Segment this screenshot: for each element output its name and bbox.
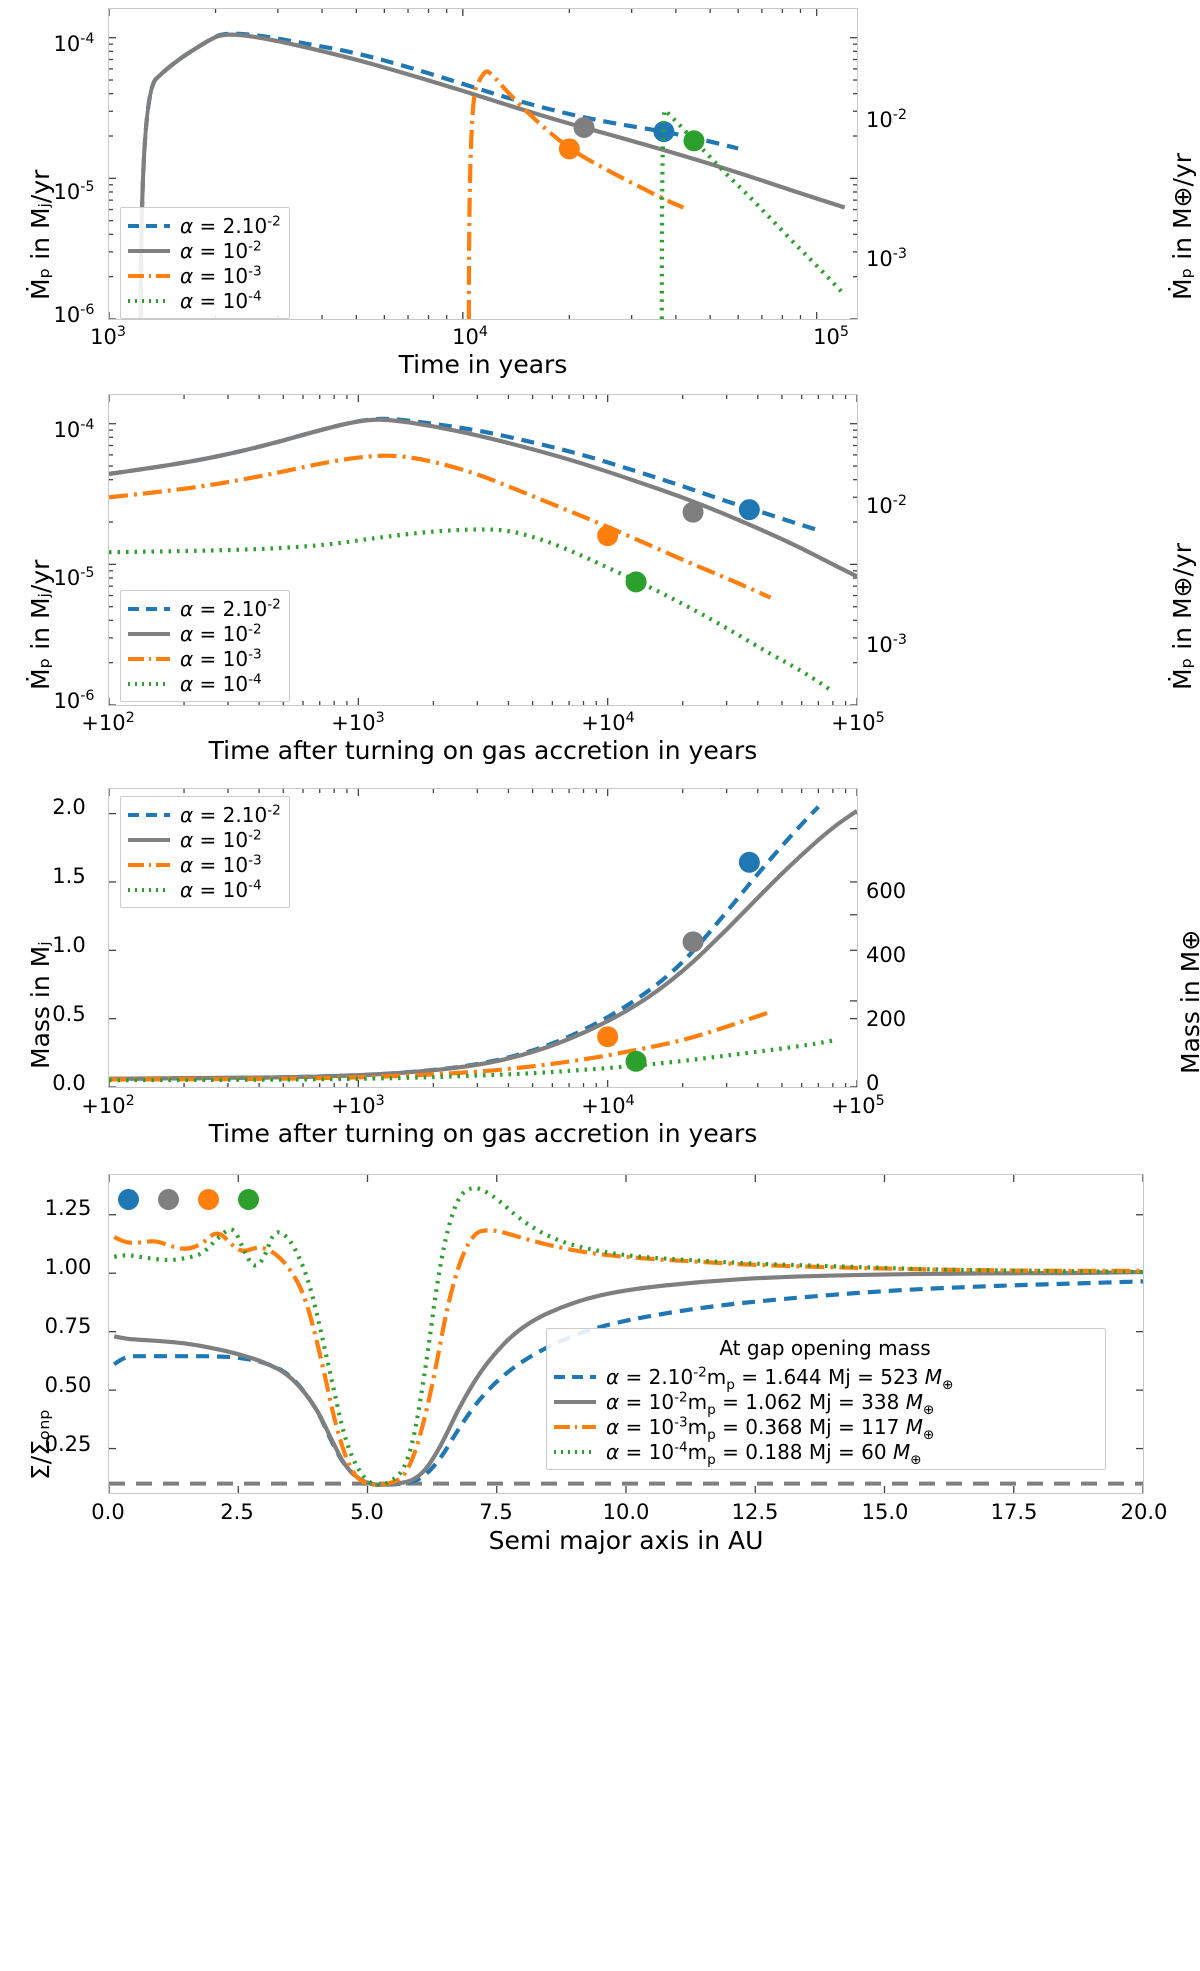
panel4-ytick-1.25: 1.25 <box>34 1196 102 1220</box>
panel4-xtick-17.5: 17.5 <box>984 1500 1044 1524</box>
panel4-xtick-10.0: 10.0 <box>596 1500 656 1524</box>
legend-line-dashdot-orange <box>553 1420 597 1434</box>
legend-label: α = 10-4 <box>180 291 262 311</box>
legend-label: α = 2.10-2 <box>180 216 281 236</box>
legend-item: α = 2.10-2 <box>127 596 281 621</box>
legend-label: α = 10-3 <box>180 649 262 669</box>
panel2-rtick-1e-3: 10-3 <box>866 633 907 657</box>
panel1-rtick-1e-2: 10-2 <box>866 108 907 132</box>
panel4-xtick-15.0: 15.0 <box>855 1500 915 1524</box>
panel-accretion-rate-vs-time: Ṁₚ in Mⱼ/yr Ṁₚ in M⊕/yr 10-4 10-5 10-6 1… <box>0 0 1200 380</box>
legend-line-solid-gray <box>127 833 171 847</box>
legend-label: α = 10-3 <box>180 855 262 875</box>
legend-line-dashdot-orange <box>127 652 171 666</box>
panel3-xtick-1e5: +105 <box>822 1094 894 1118</box>
panel3-rtick-400: 400 <box>866 943 906 967</box>
panel-mass-vs-time-after-onset: Mass in Mⱼ Mass in M⊕ 0.0 0.5 1.0 1.5 2.… <box>0 784 1200 1154</box>
legend-item: α = 10-2 <box>127 621 281 646</box>
legend-item: α = 2.10-2 <box>127 213 281 238</box>
legend-item: α = 10-4 <box>127 288 281 313</box>
panel2-ytick-1e-6: 10-6 <box>44 689 104 713</box>
panel2-ytick-1e-4: 10-4 <box>44 418 104 442</box>
legend-item: α = 10-2mp = 1.062 Mj = 338 M⊕ <box>553 1389 1097 1414</box>
legend-label: α = 10-4 <box>180 880 262 900</box>
legend-item: α = 2.10-2mp = 1.644 Mj = 523 M⊕ <box>553 1364 1097 1389</box>
panel2-xlabel: Time after turning on gas accretion in y… <box>108 736 858 765</box>
panel-accretion-rate-vs-time-after-onset: Ṁₚ in Mⱼ/yr Ṁₚ in M⊕/yr 10-4 10-5 10-6 1… <box>0 390 1200 760</box>
panel4-xtick-7.5: 7.5 <box>466 1500 526 1524</box>
legend-line-dotted-green <box>553 1445 597 1459</box>
legend-label: α = 10-3 <box>180 266 262 286</box>
panel1-ytick-1e-6: 10-6 <box>44 303 104 327</box>
panel4-ytick-0.75: 0.75 <box>34 1314 102 1338</box>
legend-line-dotted-green <box>127 294 171 308</box>
panel4-xtick-0.0: 0.0 <box>78 1500 138 1524</box>
panel1-xtick-1e5: 105 <box>801 325 861 349</box>
panel3-xtick-1e4: +104 <box>572 1094 644 1118</box>
legend-label: α = 10-2mp = 1.062 Mj = 338 M⊕ <box>606 1392 934 1412</box>
panel1-ytick-1e-4: 10-4 <box>44 32 104 56</box>
panel3-ytick-1.0: 1.0 <box>36 933 102 957</box>
panel4-ytick-1.00: 1.00 <box>34 1255 102 1279</box>
panel3-xlabel: Time after turning on gas accretion in y… <box>108 1119 858 1148</box>
legend-label: α = 10-2 <box>180 830 262 850</box>
panel4-ytick-0.25: 0.25 <box>34 1432 102 1456</box>
legend-item: α = 10-3 <box>127 646 281 671</box>
panel2-xtick-1e3: +103 <box>322 711 394 735</box>
legend-line-dashdot-orange <box>127 269 171 283</box>
legend-item: α = 10-2 <box>127 827 281 852</box>
legend-item: α = 2.10-2 <box>127 802 281 827</box>
panel4-xtick-2.5: 2.5 <box>207 1500 267 1524</box>
panel1-xtick-1e4: 104 <box>440 325 500 349</box>
panel4-xtick-12.5: 12.5 <box>725 1500 785 1524</box>
panel4-xtick-20.0: 20.0 <box>1114 1500 1174 1524</box>
panel2-xtick-1e5: +105 <box>822 711 894 735</box>
panel-surface-density-profile: Σ/Σₒₙₚ 1.25 1.00 0.75 0.50 0.25 0.0 2.5 … <box>0 1160 1200 1971</box>
panel2-ytick-1e-5: 10-5 <box>44 566 104 590</box>
panel3-legend: α = 2.10-2 α = 10-2 α = 10-3 α = 10-4 <box>120 796 290 908</box>
legend-item: α = 10-2 <box>127 238 281 263</box>
panel3-ytick-0.0: 0.0 <box>36 1071 102 1095</box>
panel1-ytick-1e-5: 10-5 <box>44 180 104 204</box>
marker-dot-gray <box>158 1189 179 1210</box>
legend-item: α = 10-3mp = 0.368 Mj = 117 M⊕ <box>553 1414 1097 1439</box>
panel1-legend: α = 2.10-2 α = 10-2 α = 10-3 α = 10-4 <box>120 207 290 319</box>
marker-dot-orange <box>198 1189 219 1210</box>
panel3-rtick-200: 200 <box>866 1007 906 1031</box>
panel4-xlabel: Semi major axis in AU <box>108 1526 1144 1555</box>
legend-label: α = 2.10-2 <box>180 599 281 619</box>
legend-line-solid-gray <box>127 244 171 258</box>
legend-line-dashed-blue <box>127 219 171 233</box>
legend-line-dashed-blue <box>127 808 171 822</box>
legend-label: α = 10-4 <box>180 674 262 694</box>
legend-line-solid-gray <box>127 627 171 641</box>
legend-line-dashed-blue <box>127 602 171 616</box>
legend-item: α = 10-3 <box>127 852 281 877</box>
legend-line-solid-gray <box>553 1395 597 1409</box>
legend-label: α = 2.10-2 <box>180 805 281 825</box>
legend-line-dashdot-orange <box>127 858 171 872</box>
legend-label: α = 10-2 <box>180 241 262 261</box>
panel4-legend-title: At gap opening mass <box>553 1334 1097 1364</box>
marker-dot-green <box>238 1189 259 1210</box>
legend-label: α = 10-2 <box>180 624 262 644</box>
panel1-rtick-1e-3: 10-3 <box>866 247 907 271</box>
panel4-xtick-5.0: 5.0 <box>337 1500 397 1524</box>
panel2-legend: α = 2.10-2 α = 10-2 α = 10-3 α = 10-4 <box>120 590 290 702</box>
panel2-xtick-1e2: +102 <box>72 711 144 735</box>
legend-item: α = 10-4 <box>127 671 281 696</box>
panel3-rtick-600: 600 <box>866 879 906 903</box>
panel3-ylabel-right: Mass in M⊕ <box>1176 930 1200 1074</box>
panel3-ytick-0.5: 0.5 <box>36 1002 102 1026</box>
legend-line-dotted-green <box>127 883 171 897</box>
panel1-xtick-1e3: 103 <box>78 325 138 349</box>
legend-item: α = 10-3 <box>127 263 281 288</box>
panel2-ylabel-right: Ṁₚ in M⊕/yr <box>1168 543 1197 690</box>
legend-item: α = 10-4mp = 0.188 Mj = 60 M⊕ <box>553 1439 1097 1464</box>
panel3-xtick-1e3: +103 <box>322 1094 394 1118</box>
panel3-rtick-0: 0 <box>866 1071 879 1095</box>
panel2-xtick-1e4: +104 <box>572 711 644 735</box>
legend-item: α = 10-4 <box>127 877 281 902</box>
panel4-marker-dots <box>118 1189 259 1210</box>
panel1-ylabel-right: Ṁₚ in M⊕/yr <box>1168 153 1197 300</box>
legend-line-dashed-blue <box>553 1370 597 1384</box>
legend-label: α = 10-3mp = 0.368 Mj = 117 M⊕ <box>606 1417 934 1437</box>
panel4-legend: At gap opening mass α = 2.10-2mp = 1.644… <box>546 1328 1106 1470</box>
panel2-rtick-1e-2: 10-2 <box>866 494 907 518</box>
legend-label: α = 10-4mp = 0.188 Mj = 60 M⊕ <box>606 1442 922 1462</box>
panel4-ytick-0.50: 0.50 <box>34 1373 102 1397</box>
panel3-ytick-2.0: 2.0 <box>36 795 102 819</box>
legend-label: α = 2.10-2mp = 1.644 Mj = 523 M⊕ <box>606 1367 953 1387</box>
panel3-xtick-1e2: +102 <box>72 1094 144 1118</box>
legend-line-dotted-green <box>127 677 171 691</box>
marker-dot-blue <box>118 1189 139 1210</box>
figure-root: Ṁₚ in Mⱼ/yr Ṁₚ in M⊕/yr 10-4 10-5 10-6 1… <box>0 0 1200 1971</box>
panel1-xlabel: Time in years <box>108 350 858 379</box>
panel3-ytick-1.5: 1.5 <box>36 864 102 888</box>
